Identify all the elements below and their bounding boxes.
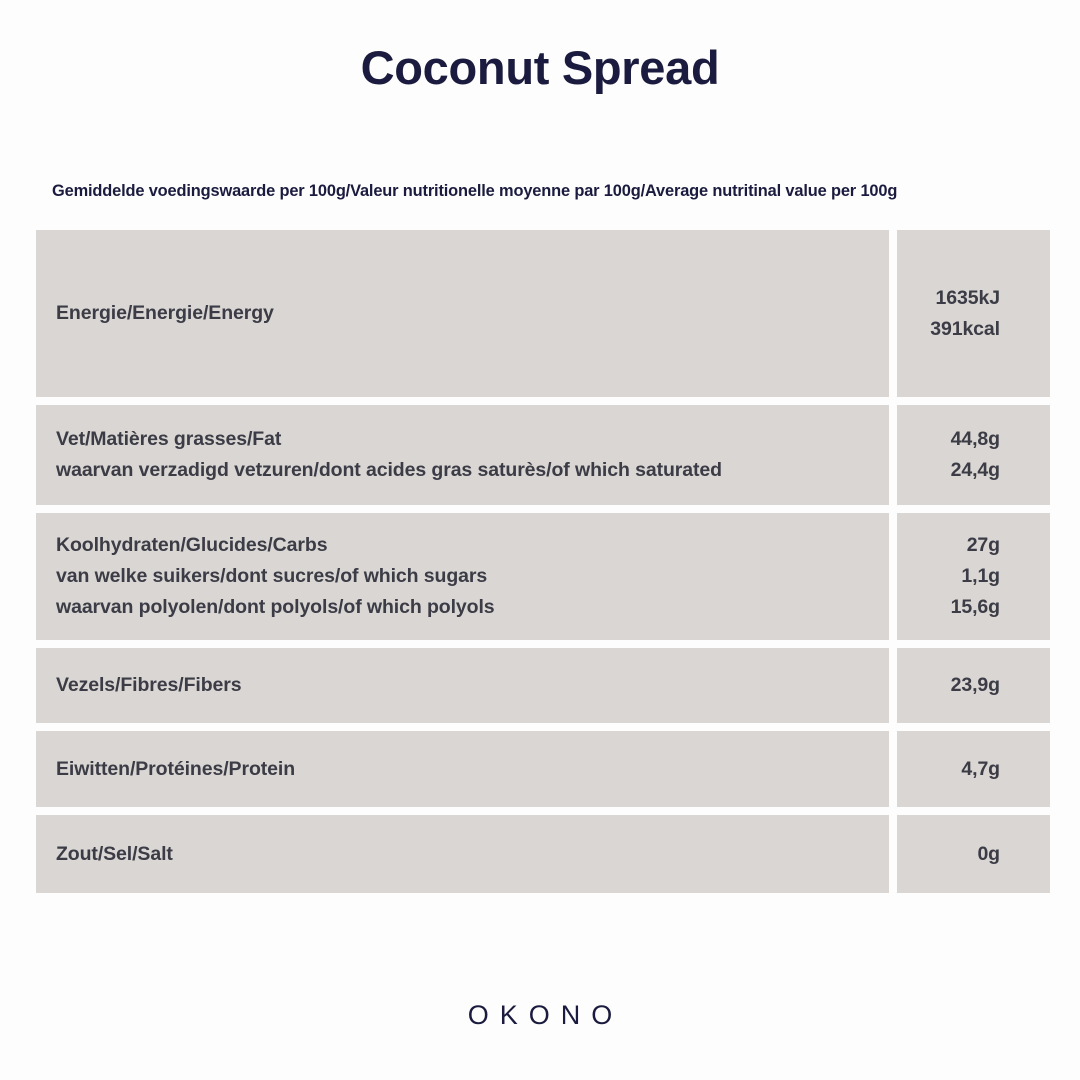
table-row: Vezels/Fibres/Fibers 23,9g — [36, 648, 1050, 723]
nutrient-label-cell: Vet/Matières grasses/Fat waarvan verzadi… — [36, 405, 889, 505]
nutrient-sublabel: waarvan verzadigd vetzuren/dont acides g… — [56, 455, 869, 486]
nutrient-value-cell: 1635kJ 391kcal — [897, 230, 1050, 397]
nutrient-value: 1,1g — [907, 561, 1000, 592]
nutrient-value: 15,6g — [907, 592, 1000, 623]
table-row: Zout/Sel/Salt 0g — [36, 815, 1050, 893]
nutrient-label-cell: Vezels/Fibres/Fibers — [36, 648, 889, 723]
nutrient-label-cell: Eiwitten/Protéines/Protein — [36, 731, 889, 807]
nutrient-sublabel: van welke suikers/dont sucres/of which s… — [56, 561, 869, 592]
nutrient-label: Vet/Matières grasses/Fat — [56, 424, 869, 455]
table-row: Energie/Energie/Energy 1635kJ 391kcal — [36, 230, 1050, 397]
nutrient-value: 391kcal — [907, 314, 1000, 345]
nutrient-label: Koolhydraten/Glucides/Carbs — [56, 530, 869, 561]
table-row: Vet/Matières grasses/Fat waarvan verzadi… — [36, 405, 1050, 505]
nutrient-value: 1635kJ — [907, 283, 1000, 314]
nutrient-value-cell: 0g — [897, 815, 1050, 893]
nutrient-value: 4,7g — [907, 754, 1000, 785]
page-title: Coconut Spread — [0, 41, 1080, 95]
nutrient-value: 44,8g — [907, 424, 1000, 455]
nutrient-label: Energie/Energie/Energy — [56, 298, 869, 329]
nutrient-value: 27g — [907, 530, 1000, 561]
nutrient-value-cell: 4,7g — [897, 731, 1050, 807]
nutrition-basis-note: Gemiddelde voedingswaarde per 100g/Valeu… — [52, 182, 1042, 201]
nutrient-value: 23,9g — [907, 670, 1000, 701]
nutrient-label: Eiwitten/Protéines/Protein — [56, 754, 869, 785]
nutrient-label: Zout/Sel/Salt — [56, 839, 869, 870]
nutrition-label-page: Coconut Spread Gemiddelde voedingswaarde… — [0, 0, 1080, 1080]
table-row: Eiwitten/Protéines/Protein 4,7g — [36, 731, 1050, 807]
nutrient-value: 0g — [907, 839, 1000, 870]
nutrient-label-cell: Koolhydraten/Glucides/Carbs van welke su… — [36, 513, 889, 640]
nutrient-value: 24,4g — [907, 455, 1000, 486]
table-row: Koolhydraten/Glucides/Carbs van welke su… — [36, 513, 1050, 640]
nutrient-value-cell: 27g 1,1g 15,6g — [897, 513, 1050, 640]
nutrient-label-cell: Energie/Energie/Energy — [36, 230, 889, 397]
brand-logo: OKONO — [0, 1000, 1080, 1031]
nutrition-table: Energie/Energie/Energy 1635kJ 391kcal Ve… — [36, 230, 1050, 893]
nutrient-label-cell: Zout/Sel/Salt — [36, 815, 889, 893]
nutrient-label: Vezels/Fibres/Fibers — [56, 670, 869, 701]
nutrient-value-cell: 44,8g 24,4g — [897, 405, 1050, 505]
nutrient-sublabel: waarvan polyolen/dont polyols/of which p… — [56, 592, 869, 623]
nutrient-value-cell: 23,9g — [897, 648, 1050, 723]
